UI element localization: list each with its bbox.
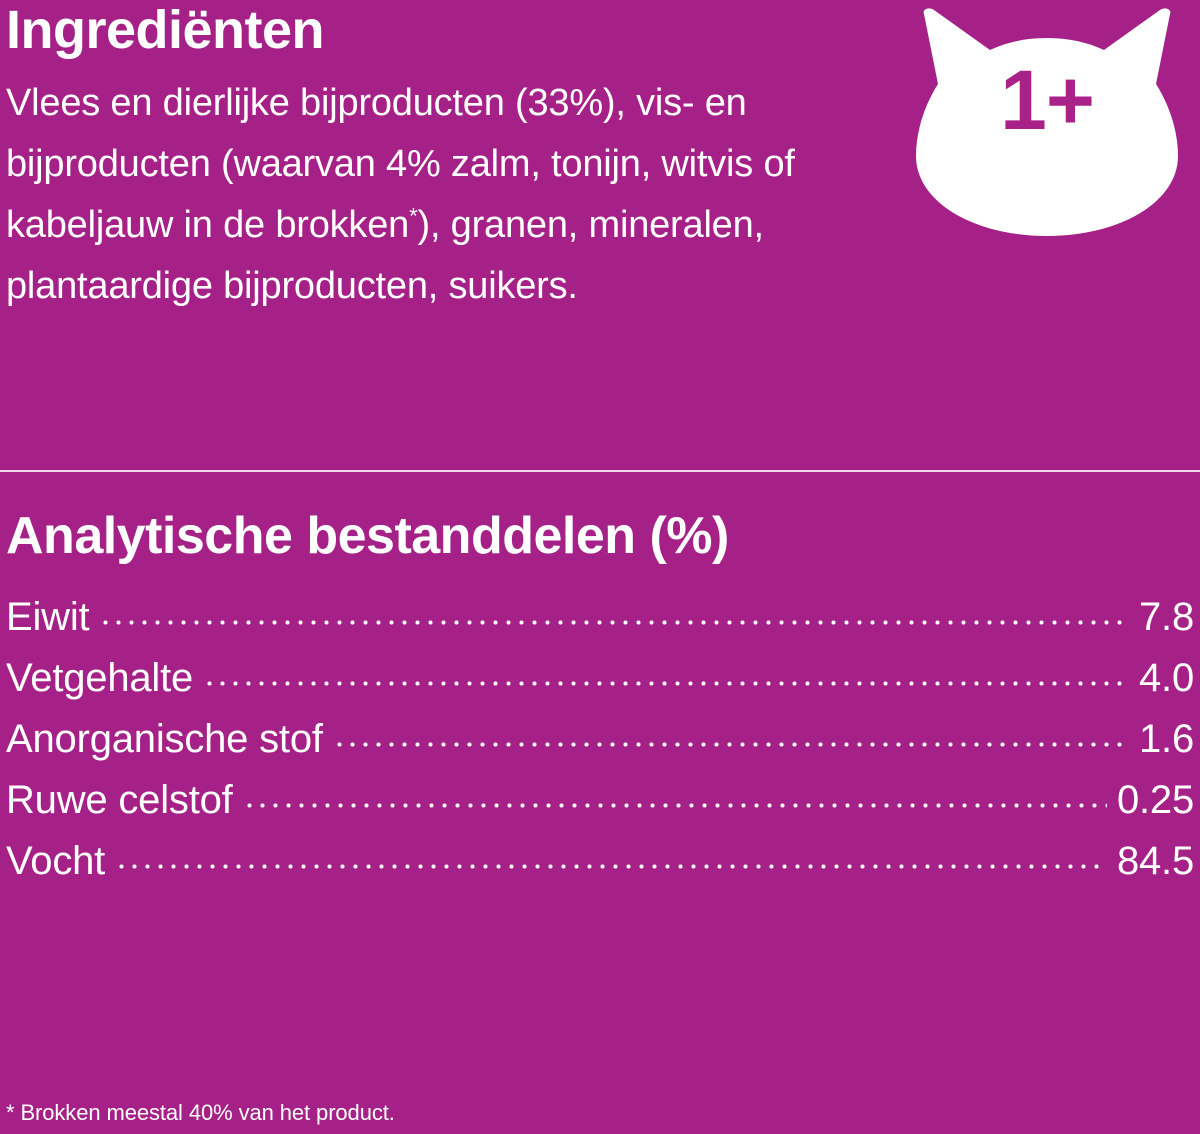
nutrition-value: 0.25 xyxy=(1117,770,1194,831)
nutrition-label: Anorganische stof xyxy=(6,709,323,770)
ingredients-heading: Ingrediënten xyxy=(6,0,900,59)
nutrition-label-page: 1+ Ingrediënten Vlees en dierlijke bijpr… xyxy=(0,0,1200,1134)
dot-leader xyxy=(243,773,1107,813)
table-row: Eiwit 7.8 xyxy=(6,587,1194,648)
section-divider xyxy=(0,470,1200,472)
footnote-text: * Brokken meestal 40% van het product. xyxy=(6,1099,395,1127)
ingredients-section: Ingrediënten Vlees en dierlijke bijprodu… xyxy=(0,0,900,355)
dot-leader xyxy=(115,834,1107,874)
nutrition-table: Eiwit 7.8 Vetgehalte 4.0 Anorganische st… xyxy=(6,587,1194,892)
analytical-constituents-section: Analytische bestanddelen (%) Eiwit 7.8 V… xyxy=(0,508,1200,892)
cat-head-age-badge: 1+ xyxy=(902,6,1192,238)
dot-leader xyxy=(333,712,1129,752)
ingredients-text: Vlees en dierlijke bijproducten (33%), v… xyxy=(6,73,886,317)
nutrition-value: 7.8 xyxy=(1139,587,1194,648)
table-row: Ruwe celstof 0.25 xyxy=(6,770,1194,831)
table-row: Vocht 84.5 xyxy=(6,831,1194,892)
cat-age-label: 1+ xyxy=(902,58,1192,142)
table-row: Vetgehalte 4.0 xyxy=(6,648,1194,709)
nutrition-value: 84.5 xyxy=(1117,831,1194,892)
nutrition-label: Vetgehalte xyxy=(6,648,193,709)
nutrition-value: 1.6 xyxy=(1139,709,1194,770)
dot-leader xyxy=(203,651,1129,691)
nutrition-label: Eiwit xyxy=(6,587,89,648)
table-row: Anorganische stof 1.6 xyxy=(6,709,1194,770)
nutrition-label: Vocht xyxy=(6,831,105,892)
nutrition-value: 4.0 xyxy=(1139,648,1194,709)
dot-leader xyxy=(99,590,1129,630)
nutrition-label: Ruwe celstof xyxy=(6,770,233,831)
analytical-heading: Analytische bestanddelen (%) xyxy=(6,508,1194,565)
